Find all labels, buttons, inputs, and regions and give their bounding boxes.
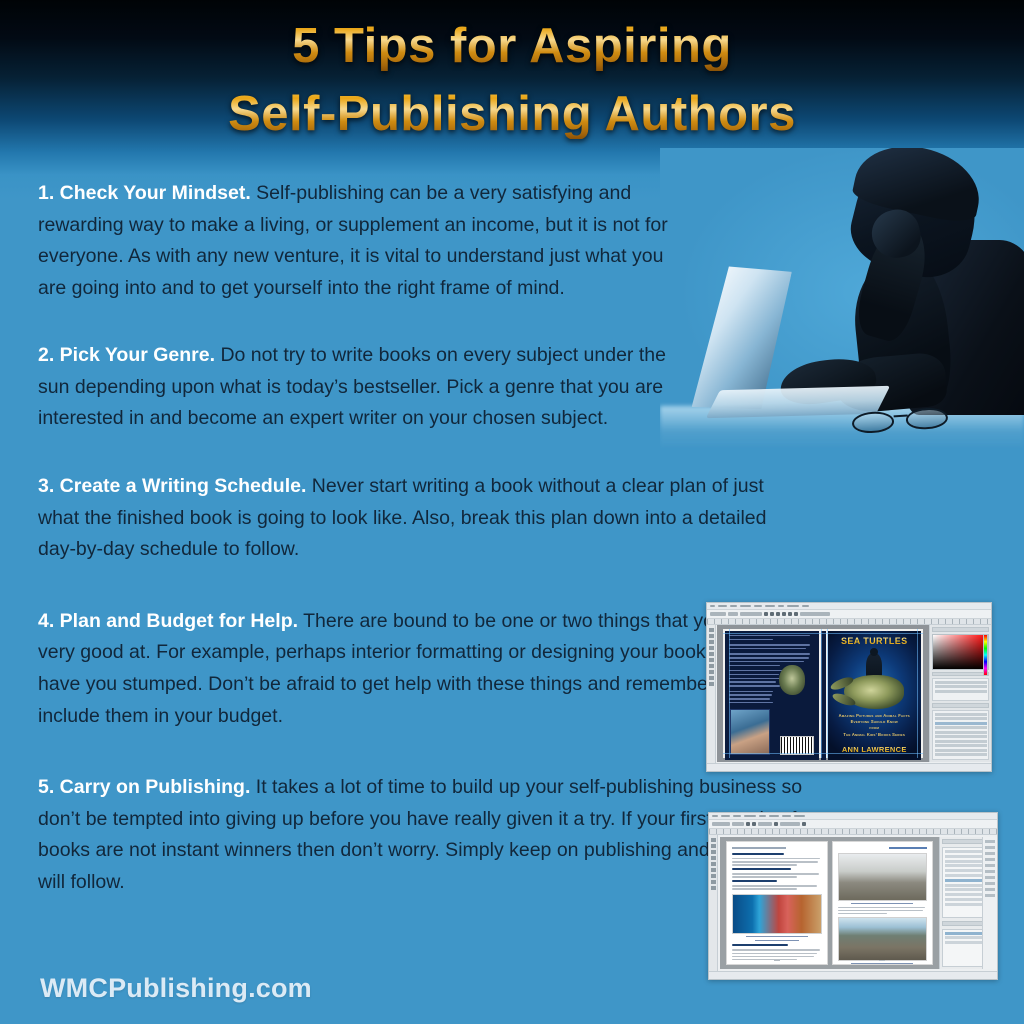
eyeglasses-right-lens (905, 407, 948, 431)
menu-item (754, 605, 762, 607)
text-line (732, 949, 819, 950)
book-page-left (726, 841, 827, 965)
zoom-tool-icon (709, 682, 714, 686)
tip-1-paragraph: 1. Check Your Mindset. Self-publishing c… (38, 178, 678, 304)
text-line (732, 876, 796, 877)
tip-4-lead: 4. Plan and Budget for Help. (38, 610, 298, 632)
tip-item-1: 1. Check Your Mindset. Self-publishing c… (38, 178, 828, 304)
text-line (732, 858, 819, 859)
text-wrap-panel-icon[interactable] (985, 882, 995, 885)
cover-editor-canvas[interactable]: SEA TURTLES Amazing Pictures and Animal … (717, 625, 929, 762)
text-line (729, 653, 810, 654)
interior-editor-tool-palette (709, 835, 718, 971)
poster-header: 5 Tips for Aspiring Self-Publishing Auth… (0, 0, 1024, 160)
links-panel-icon[interactable] (985, 846, 995, 849)
layer-row[interactable] (935, 740, 987, 743)
color-picker-square[interactable] (932, 634, 989, 670)
pages-panel-icon[interactable] (985, 840, 995, 843)
back-cover-turtle-image (779, 665, 805, 695)
text-line (838, 907, 925, 908)
text-line (732, 953, 817, 954)
swatches-panel-header[interactable] (932, 672, 989, 677)
menu-item (733, 815, 741, 817)
effects-panel-icon[interactable] (985, 870, 995, 873)
layers-panel-header[interactable] (932, 703, 989, 708)
direct-selection-tool-icon (711, 844, 716, 848)
section-heading (732, 853, 784, 856)
color-panel-icon[interactable] (985, 858, 995, 861)
align-controls (758, 822, 772, 826)
menu-item (759, 815, 766, 817)
line-tool-icon (711, 862, 716, 866)
bullet-line (729, 685, 780, 686)
book-cover-editor-screenshot: SEA TURTLES Amazing Pictures and Animal … (706, 602, 992, 772)
tip-5-lead: 5. Carry on Publishing. (38, 776, 250, 798)
text-line (732, 959, 796, 960)
text-line (729, 635, 810, 636)
layer-row[interactable] (935, 744, 987, 747)
layer-row[interactable] (935, 749, 987, 752)
cover-editor-statusbar (707, 763, 991, 771)
info-panel-icon[interactable] (985, 888, 995, 891)
panel-row (935, 681, 987, 684)
cover-author-name: ANN LAWRENCE (828, 745, 921, 754)
marquee-tool-icon (709, 634, 714, 638)
hand-tool-icon (711, 880, 716, 884)
selection-tool-icon (711, 838, 716, 842)
text-line (732, 956, 814, 957)
bullet-line (729, 681, 776, 682)
text-line (729, 639, 773, 640)
menu-item (778, 605, 784, 607)
layer-row[interactable] (935, 731, 987, 734)
infographic-poster: 5 Tips for Aspiring Self-Publishing Auth… (0, 0, 1024, 1024)
toolbar-control (800, 612, 830, 616)
layer-row[interactable] (935, 726, 987, 729)
toolbar-control (710, 612, 726, 616)
text-line (729, 698, 770, 699)
book-cover-spread: SEA TURTLES Amazing Pictures and Animal … (723, 629, 923, 758)
text-line (729, 691, 773, 692)
toolbar-button (774, 822, 778, 826)
menu-item (730, 605, 737, 607)
properties-panel[interactable] (932, 678, 989, 701)
tip-4-paragraph: 4. Plan and Budget for Help. There are b… (38, 606, 798, 732)
panel-row (935, 685, 987, 688)
crop-tool-icon (709, 646, 714, 650)
swatches-panel-icon[interactable] (985, 864, 995, 867)
back-cover-paragraph (729, 635, 815, 640)
tip-2-lead: 2. Pick Your Genre. (38, 344, 215, 366)
text-line (732, 864, 796, 865)
title-line-2: Self-Publishing Authors (0, 71, 1024, 139)
toolbar-control (728, 612, 738, 616)
author-photo (730, 709, 770, 755)
toolbar-control (740, 612, 762, 616)
scissors-tool-icon (711, 874, 716, 878)
text-line (732, 861, 818, 862)
font-selector (732, 822, 744, 826)
paragraph-style-selector (712, 822, 730, 826)
menu-item (712, 815, 718, 817)
menu-item (765, 605, 775, 607)
italic-button (752, 822, 756, 826)
menu-item (710, 605, 715, 607)
layer-row[interactable] (935, 753, 987, 756)
tip-3-paragraph: 3. Create a Writing Schedule. Never star… (38, 471, 780, 566)
text-line (732, 888, 796, 889)
cover-subtitle-line-4: The Animal Kids’ Books Series (828, 732, 921, 738)
menu-item (721, 815, 730, 817)
text-line (729, 665, 780, 666)
menu-item (787, 605, 799, 607)
bullet-line (729, 678, 785, 679)
toolbar-button (776, 612, 780, 616)
hatchling-turtle-photo (838, 853, 927, 901)
toolbar-button (782, 612, 786, 616)
menu-item (794, 815, 805, 817)
tip-5-paragraph: 5. Carry on Publishing. It takes a lot o… (38, 772, 810, 898)
text-line (729, 694, 772, 695)
layer-row[interactable] (935, 735, 987, 738)
book-back-cover (725, 631, 819, 760)
back-cover-paragraph (729, 653, 815, 666)
text-line (729, 657, 809, 658)
layer-row[interactable] (935, 713, 987, 716)
interior-editor-toolbar (709, 820, 997, 829)
image-caption (851, 963, 913, 964)
toolbar-button (770, 612, 774, 616)
layer-row[interactable] (935, 717, 987, 720)
section-heading (732, 868, 791, 871)
bullet-line (729, 674, 779, 675)
page-number (774, 960, 780, 962)
menu-item (802, 605, 809, 607)
menu-item (769, 815, 779, 817)
cover-subtitle: Amazing Pictures and Animal Facts Everyo… (828, 713, 921, 738)
text-tool-icon (709, 670, 714, 674)
text-line (729, 648, 806, 649)
cover-editor-menubar (707, 603, 991, 610)
cover-editor-tool-palette (707, 625, 716, 763)
book-interior-editor-screenshot (708, 812, 998, 980)
panel-row (935, 690, 987, 693)
shape-tool-icon (709, 676, 714, 680)
menu-item (718, 605, 727, 607)
title-line-1: 5 Tips for Aspiring (0, 0, 1024, 71)
lasso-tool-icon (709, 640, 714, 644)
text-line (838, 913, 887, 914)
color-panel-header[interactable] (932, 627, 989, 632)
back-cover-paragraph (729, 691, 815, 704)
image-caption (755, 940, 800, 941)
isbn-barcode (780, 736, 814, 755)
image-caption (851, 903, 913, 904)
book-spine (821, 631, 826, 760)
move-tool-icon (709, 628, 714, 632)
image-caption (746, 936, 808, 937)
layer-row-selected[interactable] (935, 722, 987, 725)
eraser-tool-icon (709, 658, 714, 662)
interior-editor-statusbar (709, 971, 997, 979)
zoom-tool-icon (711, 886, 716, 890)
text-line (732, 873, 819, 874)
text-line (729, 702, 773, 703)
cover-title: SEA TURTLES (841, 636, 908, 646)
menu-item (740, 605, 751, 607)
cover-editor-toolbar (707, 610, 991, 619)
turtles-on-beach-photo (838, 917, 927, 961)
book-page-right (832, 841, 933, 965)
interior-editor-canvas[interactable] (720, 837, 939, 969)
eyeglasses-left-lens (851, 410, 894, 434)
section-heading (732, 880, 777, 883)
sea-turtle-image (844, 675, 904, 709)
gradient-tool-icon (709, 664, 714, 668)
rectangle-tool-icon (711, 868, 716, 872)
back-cover-paragraph (729, 644, 815, 649)
toolbar-control (780, 822, 800, 826)
align-panel-icon[interactable] (985, 876, 995, 879)
layers-panel[interactable] (932, 710, 989, 760)
tip-3-lead: 3. Create a Writing Schedule. (38, 475, 306, 497)
interior-editor-menubar (709, 813, 997, 820)
interior-editor-panel-icon-rail (982, 837, 997, 969)
toolbar-button (802, 822, 806, 826)
text-line (729, 644, 810, 645)
hue-slider[interactable] (983, 634, 988, 676)
text-line (732, 885, 817, 886)
tip-2-paragraph: 2. Pick Your Genre. Do not try to write … (38, 340, 678, 435)
tip-item-3: 3. Create a Writing Schedule. Never star… (38, 471, 828, 566)
footer-website: WMCPublishing.com (40, 973, 312, 1004)
cover-editor-panels (929, 625, 991, 762)
stroke-panel-icon[interactable] (985, 852, 995, 855)
pen-tool-icon (711, 850, 716, 854)
text-line (838, 910, 924, 911)
toolbar-button (794, 612, 798, 616)
toolbar-button (764, 612, 768, 616)
section-heading (732, 944, 787, 947)
interior-editor-ruler (709, 829, 997, 835)
toolbar-button (788, 612, 792, 616)
running-header (889, 847, 926, 849)
page-number (879, 960, 885, 962)
running-header (732, 847, 786, 849)
preflight-panel-icon[interactable] (985, 894, 995, 897)
type-tool-icon (711, 856, 716, 860)
menu-item (744, 815, 756, 817)
book-front-cover: SEA TURTLES Amazing Pictures and Animal … (828, 631, 921, 760)
brush-tool-icon (709, 652, 714, 656)
tip-1-lead: 1. Check Your Mindset. (38, 182, 251, 204)
text-line (729, 661, 804, 662)
bullet-line (729, 670, 782, 671)
jellyfish-and-coral-photo (732, 894, 821, 934)
bold-button (746, 822, 750, 826)
menu-item (782, 815, 791, 817)
tip-item-2: 2. Pick Your Genre. Do not try to write … (38, 340, 828, 435)
